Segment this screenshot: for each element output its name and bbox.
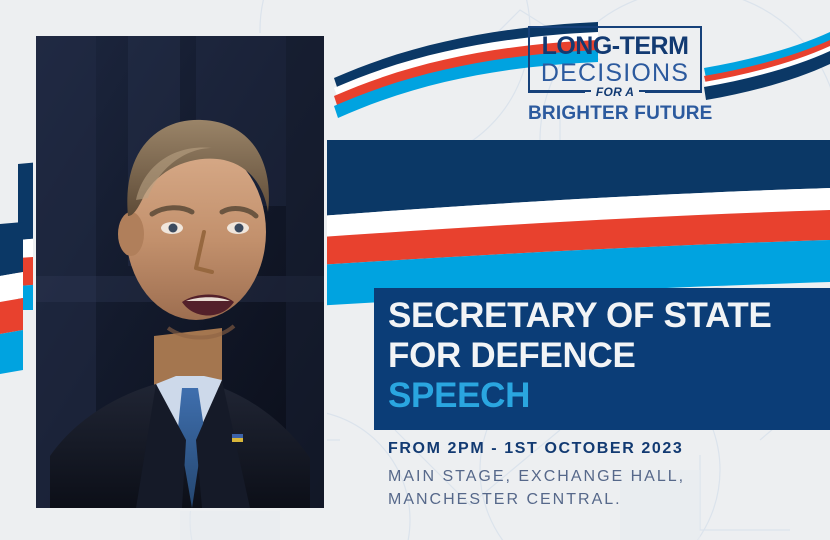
event-poster: LONG-TERM DECISIONS FOR A BRIGHTER FUTUR…	[0, 0, 830, 540]
logo-rule-right	[645, 91, 702, 93]
headline-panel: SECRETARY OF STATE FOR DEFENCE SPEECH	[374, 288, 830, 430]
campaign-logo: LONG-TERM DECISIONS FOR A BRIGHTER FUTUR…	[528, 26, 702, 125]
headline-text-block: SECRETARY OF STATE FOR DEFENCE SPEECH	[388, 296, 830, 416]
portrait-illustration	[36, 36, 324, 508]
headline-line-1: SECRETARY OF STATE	[388, 296, 830, 336]
logo-box: LONG-TERM DECISIONS FOR A	[528, 26, 702, 92]
headline-line-2: FOR DEFENCE	[388, 336, 830, 376]
event-datetime: FROM 2PM - 1ST OCTOBER 2023	[388, 440, 685, 458]
headline-line-3: SPEECH	[388, 376, 830, 416]
logo-line-decisions: DECISIONS	[538, 60, 692, 87]
edge-stripe-block-icon	[0, 210, 26, 385]
logo-rule-left	[528, 91, 585, 93]
logo-line-brighter-future: BRIGHTER FUTURE	[528, 103, 702, 125]
event-venue-line-2: MANCHESTER CENTRAL.	[388, 489, 685, 512]
logo-for-a-row: FOR A	[528, 85, 702, 99]
logo-line-long-term: LONG-TERM	[538, 34, 692, 60]
logo-line-for-a: FOR A	[591, 85, 639, 99]
event-venue-line-1: MAIN STAGE, EXCHANGE HALL,	[388, 466, 685, 489]
speaker-portrait-photo	[36, 36, 324, 508]
event-details: FROM 2PM - 1ST OCTOBER 2023 MAIN STAGE, …	[388, 440, 685, 511]
